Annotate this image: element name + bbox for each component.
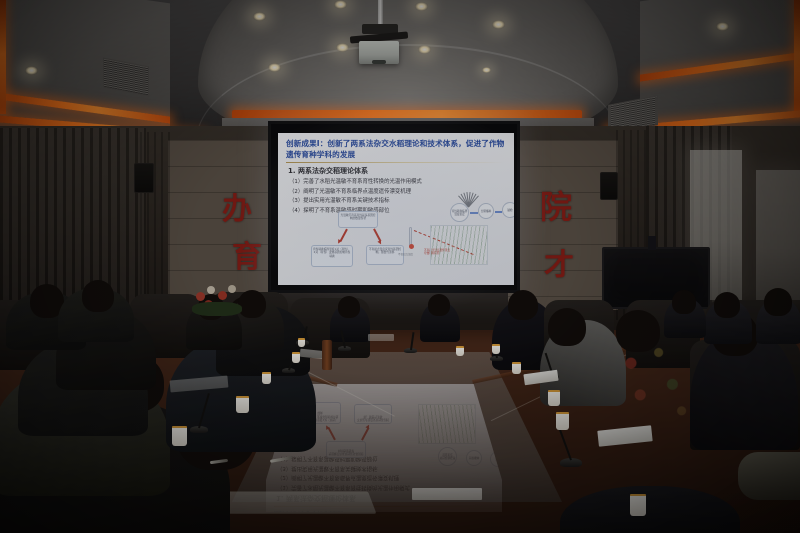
- attendee-head: [508, 290, 538, 320]
- wall-speaker-right: [600, 172, 618, 200]
- attendee-head: [428, 294, 450, 316]
- projection-screen: 创新成果Ⅰ：创新了两系法杂交水稻理论和技术体系，促进了作物遗传育种学科的发展 1…: [268, 121, 520, 293]
- downlight: [418, 45, 431, 54]
- attendee-head: [548, 308, 586, 346]
- downlight: [716, 22, 729, 31]
- downlight: [334, 0, 347, 9]
- flower: [207, 286, 215, 294]
- downlight: [268, 63, 281, 72]
- attendee-head: [672, 290, 696, 314]
- paper-cup[interactable]: [236, 396, 249, 413]
- flow-link-1: [470, 212, 478, 214]
- paper-cup[interactable]: [456, 346, 464, 356]
- projector-lens: [372, 60, 386, 64]
- table-front-inlay: [218, 491, 377, 513]
- reflected-flow-box-top: 光温敏不育系育性是多基因控制的数量性状: [326, 441, 366, 458]
- reflected-rice-photo: [418, 404, 476, 444]
- calligraphy-left-2: 育: [232, 232, 262, 276]
- documents[interactable]: [368, 334, 394, 341]
- downlight: [25, 66, 38, 75]
- attendee-head: [338, 296, 360, 318]
- slide-title-rule: [286, 162, 504, 163]
- slide-heading: 1. 两系法杂交稻理论体系: [288, 166, 368, 176]
- ceiling: [0, 0, 800, 138]
- attendee-head: [764, 288, 792, 316]
- flow-box-left: 育性转换临界温度1对（育性）、2对（育性）主效基因控制育性转换: [311, 245, 353, 267]
- rice-field-photo: [430, 225, 488, 265]
- attendee-head: [714, 292, 740, 318]
- attendee-head: [616, 310, 660, 352]
- monitor-stand: [648, 236, 656, 250]
- paper-cup[interactable]: [556, 412, 569, 430]
- paper-cup[interactable]: [262, 372, 271, 384]
- floral-arrangement: [192, 282, 248, 318]
- thermos-flask[interactable]: [322, 340, 332, 370]
- calligraphy-right-1: 院: [540, 182, 572, 228]
- list-item: （3）提出实用光温敏不育系关键技术指标: [277, 462, 467, 472]
- reflected-flow-box-right: 不育起点温度受育性基因控制，随世代漂移: [354, 404, 392, 424]
- wall-speaker-left: [134, 163, 154, 193]
- thermometer-icon: [409, 227, 412, 247]
- list-item: （2）阐明了光温敏不育系临界点温度遗传漂变机理: [277, 472, 467, 482]
- paper-cup[interactable]: [512, 362, 521, 374]
- flow-arrow-right: [373, 229, 381, 242]
- paper-cup[interactable]: [172, 426, 187, 446]
- downlight: [336, 43, 349, 52]
- downlight: [482, 67, 491, 73]
- cove-light-left-vertical: [0, 0, 6, 114]
- paper-cup[interactable]: [298, 338, 305, 347]
- reflected-arrow-left: [328, 427, 336, 440]
- reflected-circle-1: 育性转换临界温度鉴定: [438, 447, 457, 466]
- foliage: [192, 302, 242, 316]
- flow-circle-3: 镜检: [502, 202, 514, 218]
- attendee-head: [82, 280, 114, 312]
- flow-circle-2: 分期播种: [478, 203, 494, 219]
- thermometer-label: 不育起点温度: [398, 253, 424, 256]
- downlight: [492, 20, 505, 29]
- calligraphy-right-2: 才: [544, 240, 574, 284]
- flow-circle-1: 育性转换临界温度鉴定: [450, 203, 469, 222]
- window-far-right: [756, 170, 800, 300]
- documents[interactable]: [412, 488, 482, 500]
- reflected-circle-2: 分期播种: [466, 450, 482, 466]
- flow-link-2: [495, 211, 502, 213]
- paper-cup[interactable]: [548, 390, 560, 406]
- flower: [228, 285, 236, 293]
- reflected-arrow-right: [361, 427, 369, 440]
- paper-cup[interactable]: [630, 494, 646, 516]
- presentation-slide: 创新成果Ⅰ：创新了两系法杂交水稻理论和技术体系，促进了作物遗传育种学科的发展 1…: [278, 133, 514, 285]
- downlight: [415, 2, 428, 11]
- flower: [196, 292, 205, 301]
- paper-cup[interactable]: [492, 344, 500, 354]
- downlight: [253, 12, 266, 21]
- cove-light-right-vertical: [794, 0, 800, 114]
- paper-cup[interactable]: [292, 352, 300, 363]
- flow-arrow-left: [340, 229, 348, 242]
- slide-title: 创新成果Ⅰ：创新了两系法杂交水稻理论和技术体系，促进了作物遗传育种学科的发展: [286, 139, 506, 160]
- flower: [218, 291, 227, 300]
- conference-room-scene: 办 育 院 才 育 创新成果Ⅰ：创新了两系法杂交水稻理论和技术体系，促进了作物遗…: [0, 0, 800, 533]
- flow-box-top: 光温敏不育系育性是多基因控制的数量性状: [338, 211, 378, 228]
- attendee-arm: [738, 452, 800, 500]
- calligraphy-left-1: 办: [222, 184, 252, 228]
